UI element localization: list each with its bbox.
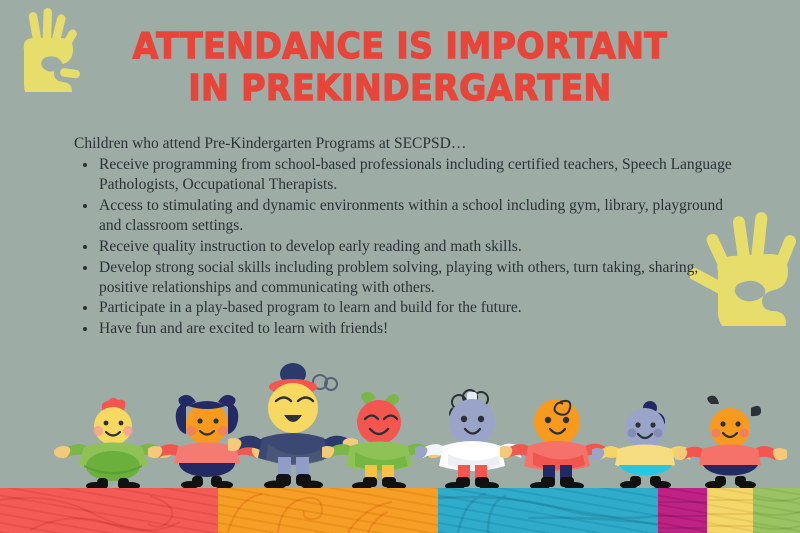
block-red xyxy=(0,488,218,533)
title-line-2: IN PREKINDERGARTEN xyxy=(32,68,768,110)
block-green xyxy=(753,488,800,533)
list-item: Develop strong social skills including p… xyxy=(74,258,734,298)
list-item: Receive programming from school-based pr… xyxy=(74,155,734,195)
benefits-list: Receive programming from school-based pr… xyxy=(74,155,734,339)
title-line-1: ATTENDANCE IS IMPORTANT xyxy=(32,26,768,68)
child-figure-8 xyxy=(675,394,787,490)
intro-line: Children who attend Pre-Kindergarten Pro… xyxy=(74,134,734,154)
list-item: Receive quality instruction to develop e… xyxy=(74,237,734,257)
body-content: Children who attend Pre-Kindergarten Pro… xyxy=(74,134,734,340)
block-cyan xyxy=(438,488,658,533)
list-item: Have fun and are excited to learn with f… xyxy=(74,319,734,339)
poster-title: ATTENDANCE IS IMPORTANT IN PREKINDERGART… xyxy=(0,26,800,110)
block-orange xyxy=(218,488,438,533)
block-magenta xyxy=(658,488,707,533)
list-item: Access to stimulating and dynamic enviro… xyxy=(74,196,734,236)
floor-block-strip xyxy=(0,488,800,533)
poster-canvas: ATTENDANCE IS IMPORTANT IN PREKINDERGART… xyxy=(0,0,800,533)
list-item: Participate in a play-based program to l… xyxy=(74,298,734,318)
block-yellow xyxy=(707,488,753,533)
